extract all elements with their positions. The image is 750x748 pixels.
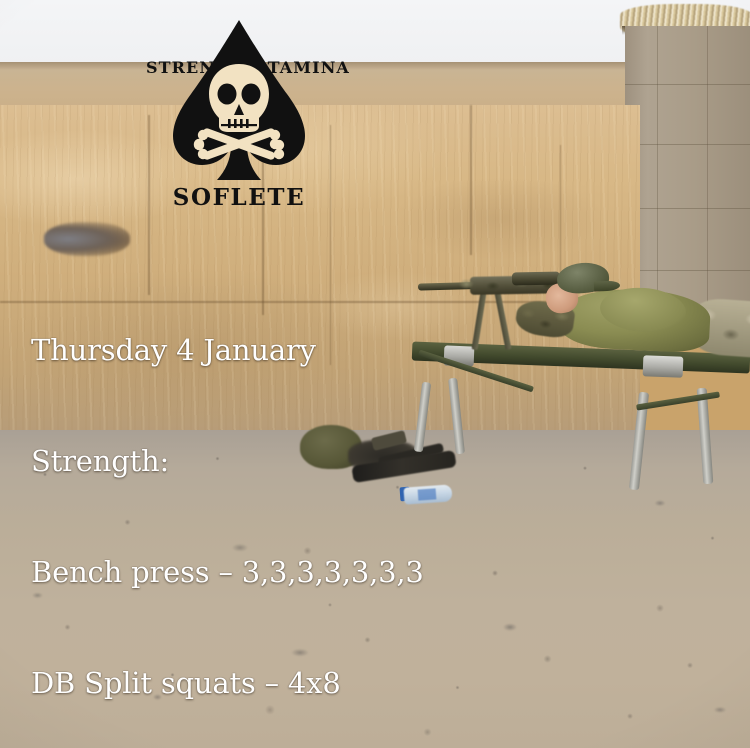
workout-line-split-squats: DB Split squats – 4x8	[31, 665, 731, 702]
workout-line-bench: Bench press – 3,3,3,3,3,3,3	[31, 554, 731, 591]
workout-line-strength-heading: Strength:	[31, 443, 731, 480]
soflete-logo: STRENGTH STAMINA	[143, 18, 335, 214]
workout-text-block: Thursday 4 January Strength: Bench press…	[31, 258, 731, 748]
workout-line-date: Thursday 4 January	[31, 332, 731, 369]
spade-skull-crossbones-icon	[173, 18, 305, 190]
wall-hole	[44, 222, 130, 256]
workout-poster: STRENGTH STAMINA	[0, 0, 750, 748]
logo-brand-text: SOFLETE	[143, 184, 335, 211]
